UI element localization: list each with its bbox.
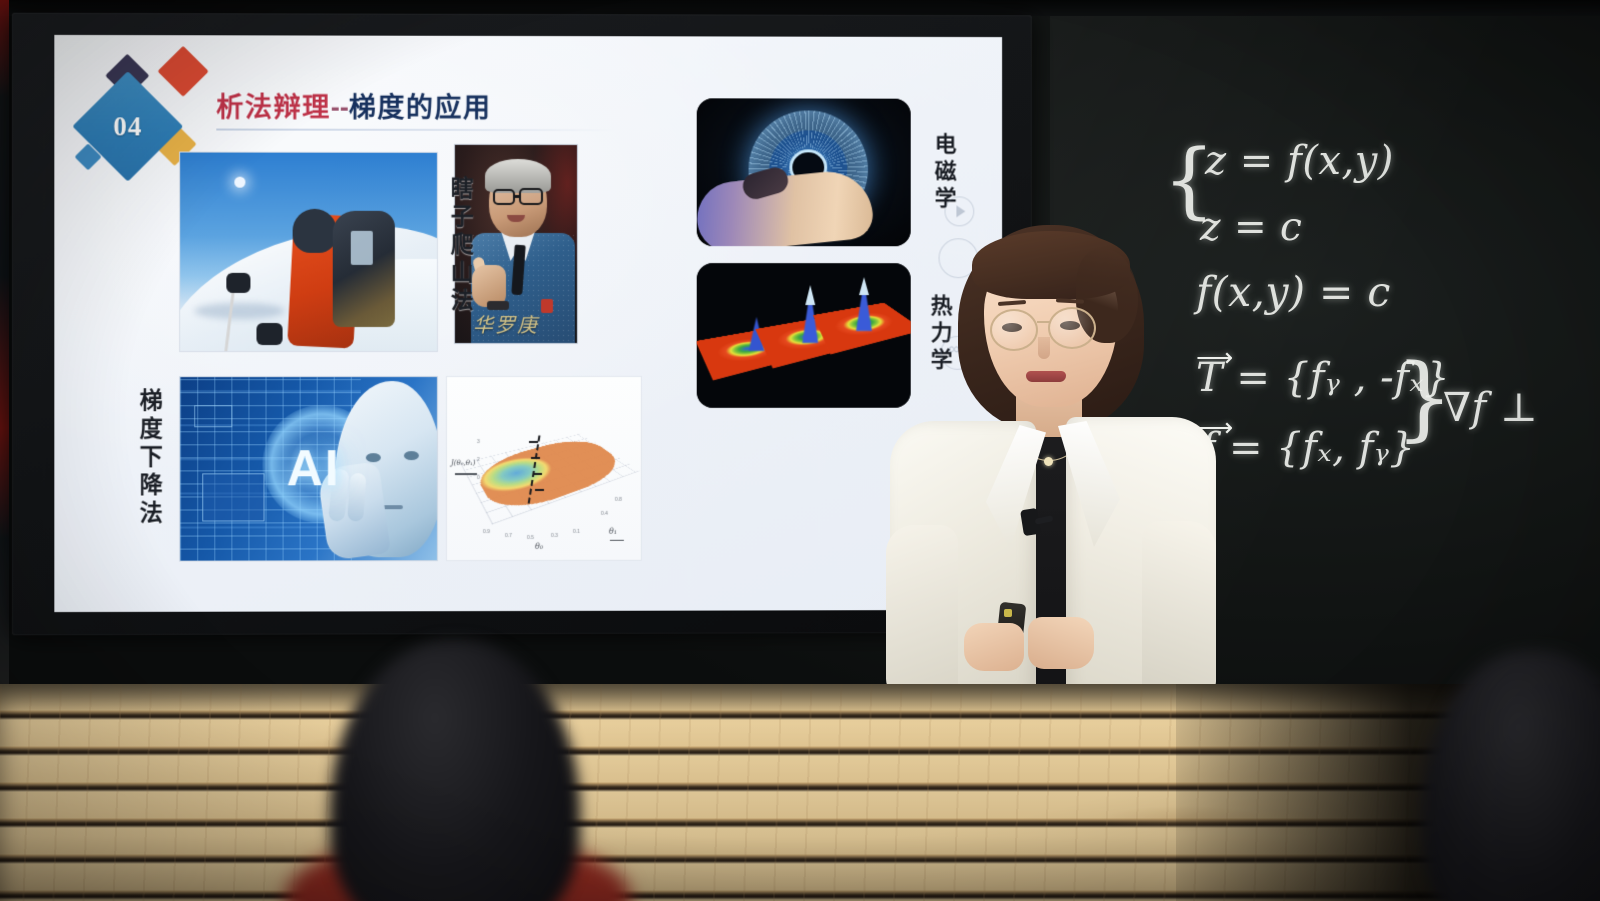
- presenter-hand-right: [1028, 617, 1094, 669]
- slide-title-blue: 梯度的应用: [349, 93, 492, 123]
- photo-climber-hood: [293, 209, 337, 253]
- presenter-glasses-left: [990, 309, 1038, 351]
- presenter-mouth: [1026, 371, 1066, 382]
- chalk-equation-perpendicular: ∇f ⊥: [1443, 385, 1538, 431]
- gradient-descent-plot: J(θ₀,θ₁) θ₀ θ₁ 0.9 0.7 0.5 0.3 0.1 3 2 0…: [446, 376, 642, 561]
- projection-screen[interactable]: 04 析法辩理--梯度的应用: [12, 13, 1032, 636]
- plot-x1-axis-label: θ₁: [609, 527, 617, 536]
- portrait-glasses-bridge: [514, 195, 521, 198]
- presenter: [880, 225, 1220, 695]
- portrait-glasses-right: [519, 188, 543, 205]
- bose-einstein-condensate-plot: [697, 263, 911, 408]
- portrait-signature: 华罗庚: [473, 305, 573, 341]
- title-underline: [216, 129, 617, 132]
- lecture-hall-scene: { z = f(x,y) z = c f(x,y) = c T = {fᵧ , …: [0, 0, 1600, 901]
- plot-path-marker: [535, 489, 544, 491]
- presenter-necklace-pendant: [1044, 457, 1053, 466]
- plot-tick-label: 0.9: [483, 529, 490, 535]
- plasma-ball-photo: [697, 98, 911, 246]
- portrait-hair: [485, 159, 551, 193]
- ai-robot-finger-2: [347, 473, 366, 522]
- presentation-slide[interactable]: 04 析法辩理--梯度的应用: [54, 35, 1002, 612]
- plot-tick-label: 0.3: [551, 533, 558, 539]
- ai-chip-large: [202, 473, 264, 521]
- plot-tick-label: 0.7: [505, 533, 512, 539]
- photo-sun: [234, 177, 245, 188]
- wooden-slat-wall: [0, 684, 1600, 901]
- photo-snow-shadow: [194, 303, 284, 319]
- section-number-label: 04: [113, 111, 142, 142]
- presenter-glasses-right: [1048, 307, 1096, 349]
- plot-tick-label: 0: [477, 475, 480, 481]
- photo-backpack-tag: [351, 231, 373, 265]
- mountaineer-photo: [179, 152, 438, 353]
- chalk-equation-z-equals-f: z = f(x,y): [1205, 138, 1394, 184]
- plot-tick-label: 0.8: [615, 497, 622, 503]
- plot-tick-label: 0.1: [573, 529, 580, 535]
- label-gradient-descent: 梯度下降法: [137, 388, 161, 528]
- ai-robot-photo: AI: [179, 376, 438, 562]
- plot-tick-label: 0.5: [527, 535, 534, 541]
- presenter-arm-left: [886, 525, 958, 697]
- plot-path-marker: [533, 473, 542, 475]
- diamond-red-icon: [158, 46, 209, 97]
- presenter-glasses-bridge: [1037, 321, 1050, 323]
- remote-indicator-light: [1004, 609, 1012, 617]
- play-button-icon[interactable]: [945, 196, 975, 226]
- ai-robot-eye-left: [366, 453, 381, 462]
- ai-overlay-text: AI: [287, 439, 341, 497]
- plot-tick-label: 0.4: [601, 511, 608, 517]
- portrait-glasses-left: [493, 189, 515, 205]
- wall-trim-left: [0, 0, 9, 690]
- ai-robot-eye-right: [404, 451, 419, 460]
- plot-y-axis-rule: [455, 473, 477, 475]
- plot-x1-axis-rule: [610, 540, 624, 541]
- photo-climber-backpack: [333, 211, 395, 327]
- presenter-nose: [1038, 337, 1050, 359]
- label-blind-climb: 瞎子爬山法: [448, 176, 472, 316]
- plot-tick-label: 2: [477, 457, 480, 463]
- slide-title-red: 析法辩理: [216, 92, 330, 122]
- slide-title-dash: --: [331, 93, 349, 123]
- photo-climber-glove-lower: [256, 323, 282, 345]
- plot-y-axis-label: J(θ₀,θ₁): [451, 459, 476, 467]
- plot-path-marker: [529, 441, 538, 443]
- chalk-equation-level-curve: f(x,y) = c: [1196, 268, 1391, 316]
- bec-peak-tip-2: [805, 285, 815, 305]
- presenter-hand-left: [964, 623, 1024, 671]
- slide-title: 析法辩理--梯度的应用: [216, 85, 491, 125]
- presenter-arm-right: [1142, 521, 1216, 697]
- plot-x0-axis-label: θ₀: [535, 542, 543, 551]
- plot-tick-label: 3: [477, 439, 480, 445]
- ai-chip-small: [194, 405, 232, 427]
- plot-path-marker: [531, 457, 540, 459]
- photo-climber-glove-upper: [226, 273, 250, 293]
- bec-peak-tip-3: [859, 277, 869, 295]
